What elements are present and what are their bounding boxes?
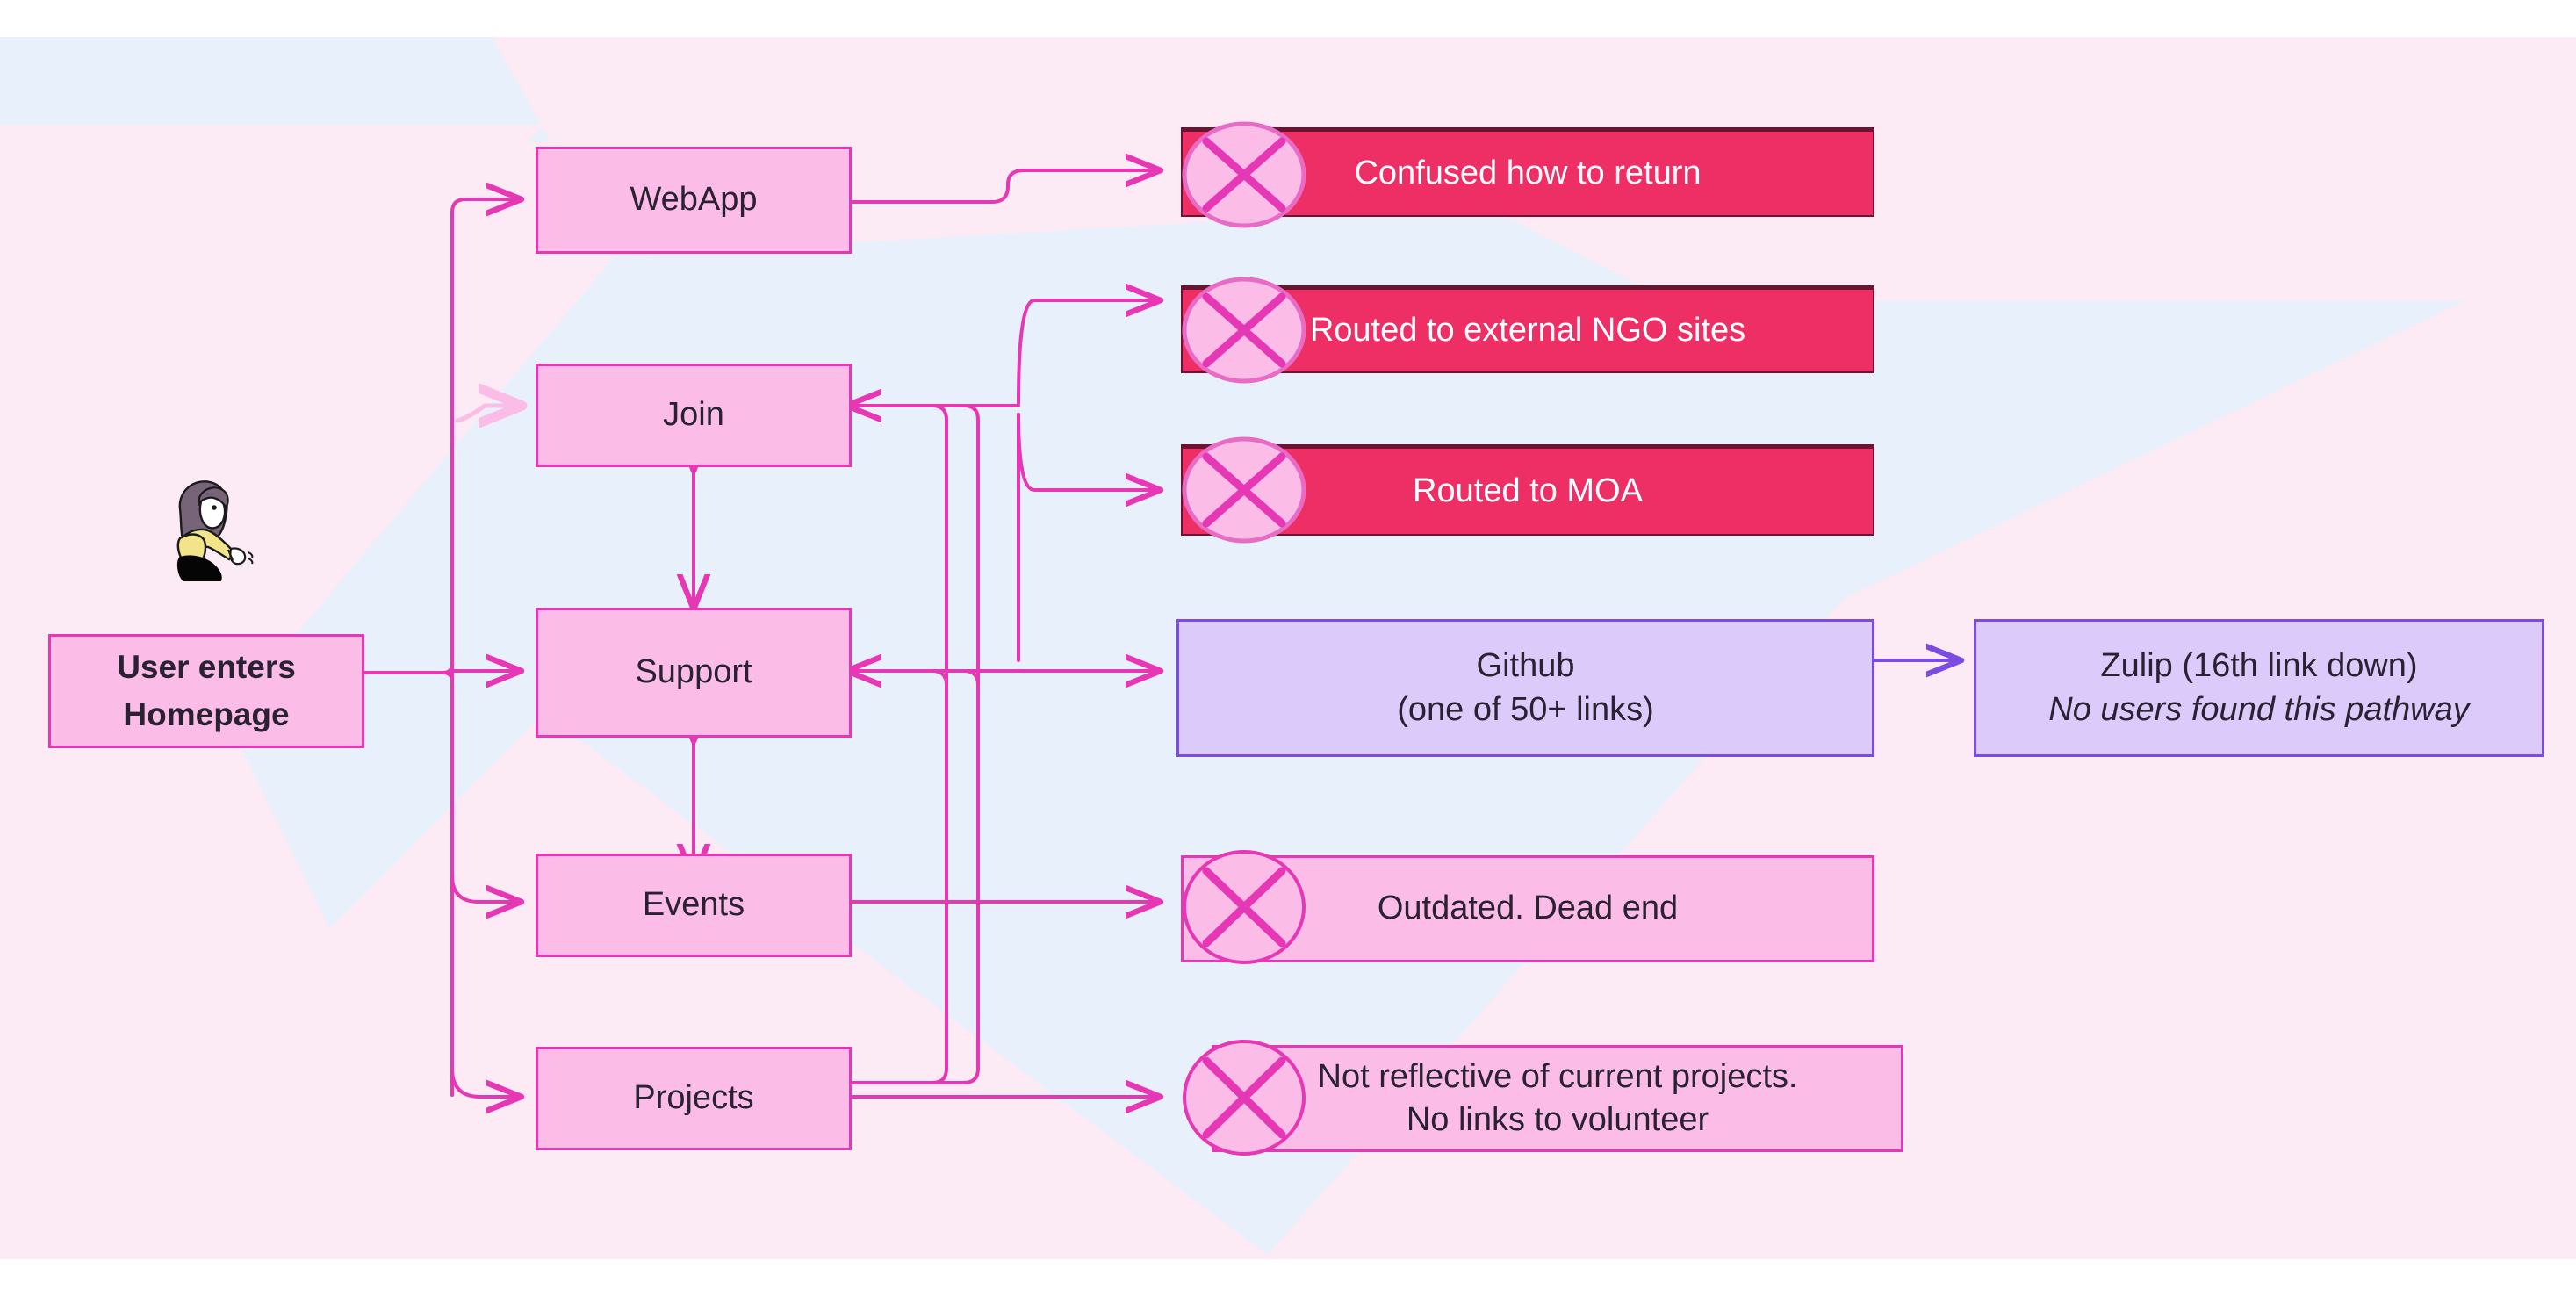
edge-bus-to-moa [1018,414,1157,490]
edge-to-events [452,875,518,902]
node-events-label: Events [643,883,745,926]
edge-spine-corner-down [443,673,452,681]
node-outcome-ngo[interactable]: Routed to external NGO sites [1181,285,1874,373]
node-support[interactable]: Support [536,608,852,738]
node-outcome-ngo-label: Routed to external NGO sites [1310,309,1745,352]
node-outcome-moa-label: Routed to MOA [1413,470,1643,513]
node-outcome-projects-line2: No links to volunteer [1407,1099,1709,1142]
edge-to-webapp [452,199,518,213]
edge-webapp-to-confused [850,170,1157,202]
node-outcome-moa[interactable]: Routed to MOA [1181,444,1874,536]
node-user-enters-homepage[interactable]: User enters Homepage [48,634,364,748]
edge-loop-inner-b [850,671,978,1069]
node-webapp[interactable]: WebApp [536,147,852,254]
start-line1: User enters [117,644,296,691]
node-events[interactable]: Events [536,854,852,957]
diagram-canvas: User enters Homepage WebApp Join Support… [0,37,2576,1259]
node-outcome-outdated[interactable]: Outdated. Dead end [1181,855,1874,962]
node-projects[interactable]: Projects [536,1047,852,1150]
node-outcome-outdated-label: Outdated. Dead end [1378,887,1678,930]
node-terminal-zulip-line1: Zulip (16th link down) [2100,645,2417,688]
edge-to-projects [452,1069,518,1097]
node-support-label: Support [635,651,752,694]
user-avatar-illustration [145,472,268,594]
node-outcome-confused-label: Confused how to return [1354,152,1701,195]
node-projects-label: Projects [633,1077,753,1120]
node-terminal-zulip-line2: No users found this pathway [2048,688,2470,731]
node-terminal-zulip[interactable]: Zulip (16th link down) No users found th… [1974,619,2544,757]
node-outcome-github-line1: Github [1477,645,1575,688]
node-join-label: Join [663,393,724,436]
node-outcome-confused[interactable]: Confused how to return [1181,127,1874,217]
edge-loop-inner-a [850,671,946,1069]
node-join[interactable]: Join [536,364,852,467]
diagram-stage: User enters Homepage WebApp Join Support… [0,0,2576,1297]
node-outcome-github[interactable]: Github (one of 50+ links) [1176,619,1874,757]
start-line2: Homepage [123,691,289,739]
node-outcome-github-line2: (one of 50+ links) [1397,688,1654,731]
edge-loop-outer [850,406,946,1083]
edge-to-join [457,406,518,421]
edge-loop-middle [850,406,978,1083]
edge-bus-to-ngo [1018,300,1157,403]
node-webapp-label: WebApp [630,178,757,221]
node-outcome-projects-line1: Not reflective of current projects. [1318,1056,1798,1099]
node-outcome-projects[interactable]: Not reflective of current projects. No l… [1212,1045,1903,1152]
